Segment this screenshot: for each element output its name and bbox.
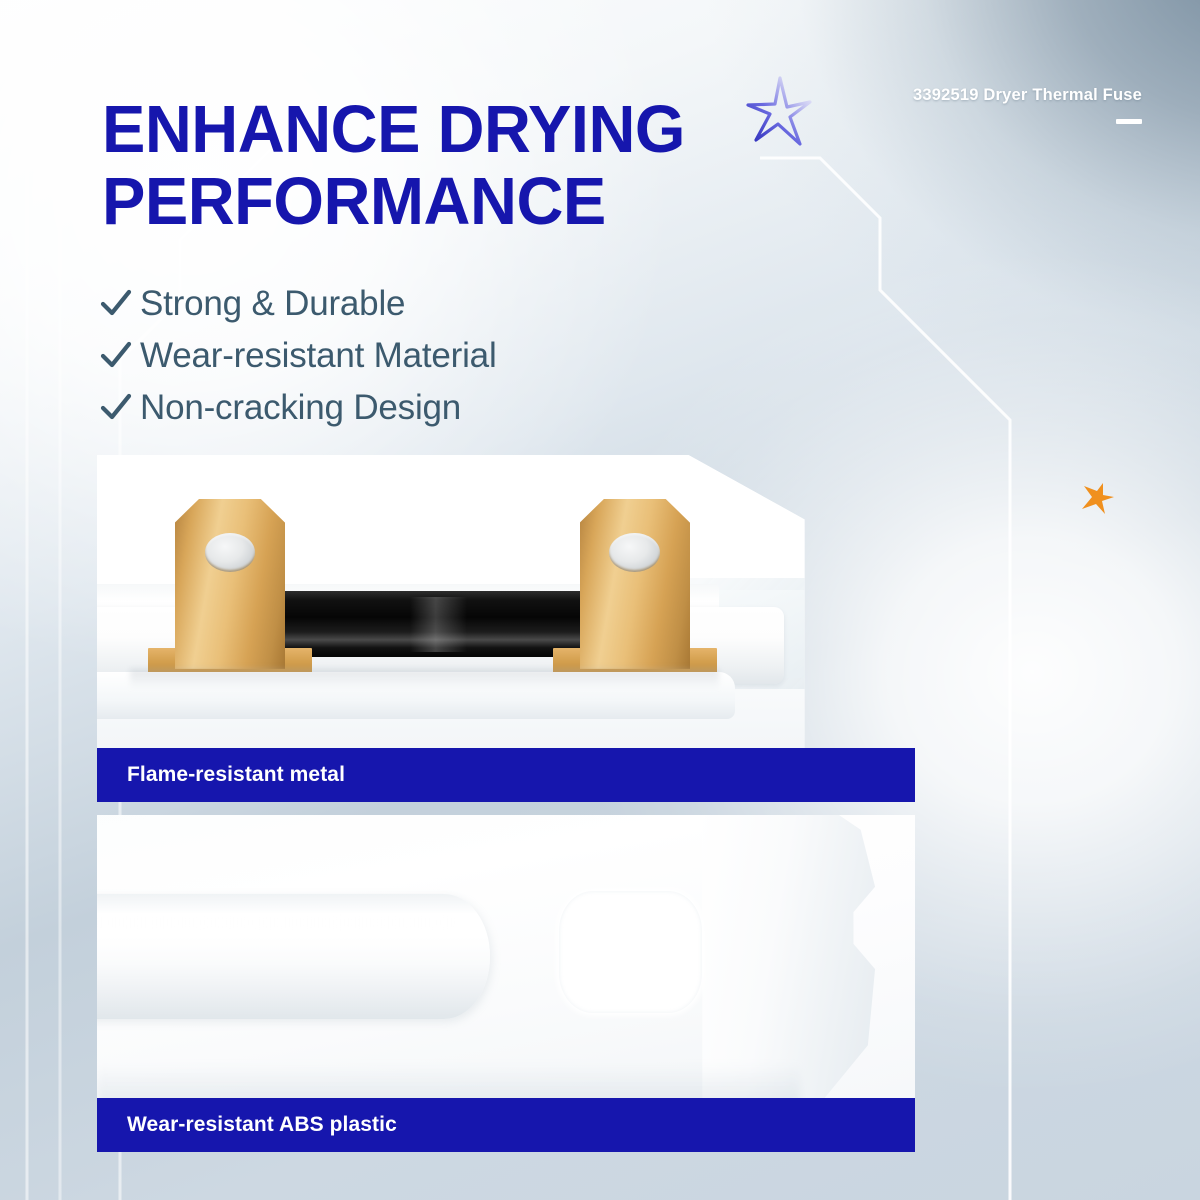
brass-terminal-left <box>175 499 285 669</box>
feature-label: Non-cracking Design <box>140 388 461 428</box>
star-icon <box>742 74 812 148</box>
bluestars-logo: Blue Stars <box>1062 195 1172 525</box>
check-icon <box>100 393 140 423</box>
plastic-rod <box>97 894 490 1019</box>
caption-bar: Wear-resistant ABS plastic <box>97 1098 915 1152</box>
caption-bar: Flame-resistant metal <box>97 748 915 802</box>
headline-line-1: ENHANCE DRYING <box>102 94 781 166</box>
product-photo-metal <box>97 455 915 748</box>
check-icon <box>100 289 140 319</box>
caption-text: Flame-resistant metal <box>97 763 345 787</box>
list-item: Non-cracking Design <box>100 382 497 434</box>
caption-text: Wear-resistant ABS plastic <box>97 1113 397 1137</box>
terminal-hole <box>205 533 256 572</box>
fuse-black-element <box>269 591 584 657</box>
headline-line-2: PERFORMANCE <box>102 166 781 238</box>
feature-label: Wear-resistant Material <box>140 336 497 376</box>
abs-illustration <box>97 815 915 1098</box>
product-photo-plastic <box>97 815 915 1098</box>
terminal-hole <box>609 533 660 572</box>
product-panel-plastic: Wear-resistant ABS plastic <box>97 815 915 1152</box>
list-item: Strong & Durable <box>100 278 497 330</box>
label-divider-dash <box>1116 119 1142 124</box>
list-item: Wear-resistant Material <box>100 330 497 382</box>
logo-star-icon <box>1082 483 1114 514</box>
mounting-hole <box>559 891 702 1013</box>
marketing-infographic: 3392519 Dryer Thermal Fuse ENHANCE DRYIN… <box>0 0 1200 1200</box>
fuse-illustration <box>97 455 915 748</box>
feature-list: Strong & Durable Wear-resistant Material… <box>100 278 497 434</box>
product-panel-metal: Flame-resistant metal <box>97 455 915 802</box>
brass-terminal-right <box>580 499 690 669</box>
check-icon <box>100 341 140 371</box>
page-title: ENHANCE DRYING PERFORMANCE <box>102 94 802 238</box>
feature-label: Strong & Durable <box>140 284 405 324</box>
